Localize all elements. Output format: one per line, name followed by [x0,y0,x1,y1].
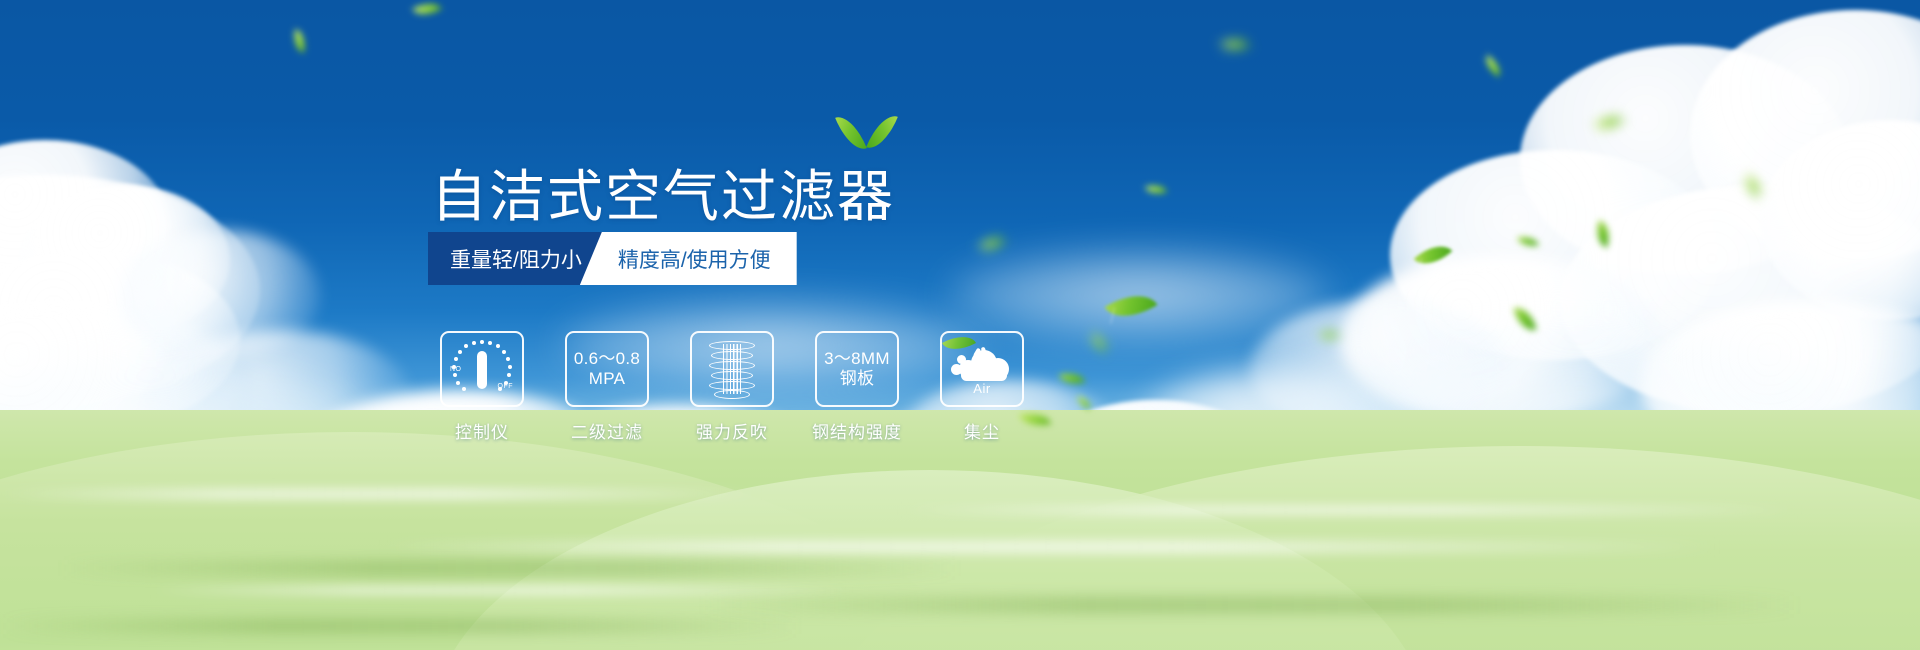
dial-label-no: NO [450,366,462,373]
feature-caption: 强力反吹 [696,418,768,443]
pressure-text-icon: 0.6～0.8 MPA [574,349,640,389]
grass-shade-3 [0,618,800,634]
air-label: Air [951,381,1013,396]
badge-precision-convenience: 精度高/使用方便 [580,232,797,285]
dial-needle [477,351,487,389]
feature-icon-box: NO OFF [440,331,524,407]
feature-icon-box [690,331,774,407]
pressure-value: 0.6～0.8 [574,349,640,369]
feature-caption: 钢结构强度 [812,418,902,443]
pressure-unit: MPA [574,369,640,389]
feature-item-controller: NO OFF 控制仪 [438,331,526,443]
feature-icon-row: NO OFF 控制仪 0.6～0.8 MPA 二级过滤 [438,331,1026,443]
feature-icon-box: 0.6～0.8 MPA [565,331,649,407]
feature-caption: 二级过滤 [571,418,643,443]
grass-shade-1 [60,560,960,576]
feature-caption: 集尘 [964,418,1000,443]
feature-item-back-blow: 强力反吹 [688,331,776,443]
steel-thickness: 3～8MM [824,349,890,369]
feature-badge-group: 重量轻/阻力小 精度高/使用方便 [428,232,797,285]
filter-stack-icon [706,339,758,399]
feature-item-dust-collection: Air 集尘 [938,331,1026,443]
grass-highlight-2 [380,540,1720,554]
feature-caption: 控制仪 [455,418,509,443]
grass-shade-2 [700,596,1800,614]
feature-icon-box: 3～8MM 钢板 [815,331,899,407]
air-cloud-icon: Air [951,346,1013,392]
dial-label-off: OFF [498,383,514,390]
feature-icon-box: Air [940,331,1024,407]
badge-weight-resistance: 重量轻/阻力小 [428,232,602,285]
feature-item-two-stage-filter: 0.6～0.8 MPA 二级过滤 [563,331,651,443]
grass-highlight-3 [900,505,1800,515]
grass-field-layer [0,0,1920,650]
grass-highlight-4 [150,586,850,595]
page-title: 自洁式空气过滤器 [431,169,895,225]
control-dial-icon: NO OFF [451,340,513,398]
grass-highlight-1 [0,488,760,500]
steel-text-icon: 3～8MM 钢板 [824,349,890,389]
product-banner: 自洁式空气过滤器 重量轻/阻力小 精度高/使用方便 [0,0,1920,650]
feature-item-steel-strength: 3～8MM 钢板 钢结构强度 [813,331,901,443]
steel-material: 钢板 [824,369,890,389]
